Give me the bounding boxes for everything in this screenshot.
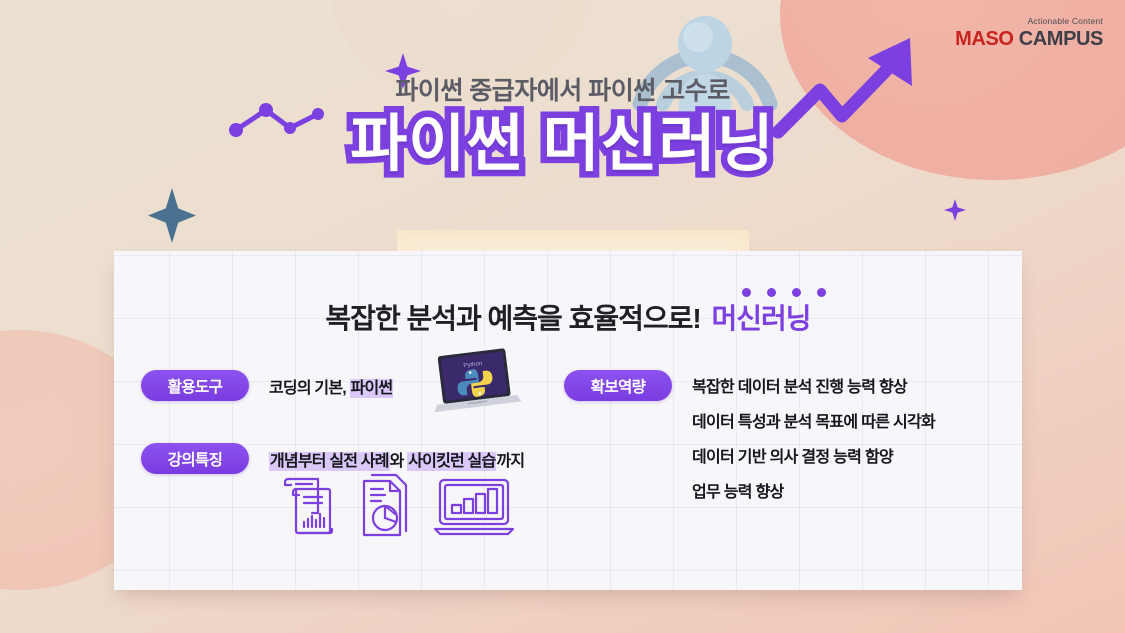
hero-title-block: 파이썬 중급자에서 파이썬 고수로 파이썬 머신러닝 <box>0 78 1125 179</box>
brand-tagline: Actionable Content <box>955 17 1103 26</box>
row-features-seg-3: 사이킷런 실습 <box>407 452 496 471</box>
row-tools-text-plain: 코딩의 기본, <box>269 380 350 397</box>
sparkle-diamond-icon-right <box>944 199 966 221</box>
badge-tools[interactable]: 활용도구 <box>141 370 249 401</box>
badge-skills[interactable]: 확보역량 <box>564 370 672 401</box>
row-skills: 확보역량 복잡한 데이터 분석 진행 능력 향상 데이터 특성과 분석 목표에 … <box>564 370 935 502</box>
laptop-bar-chart-icon <box>432 472 518 540</box>
hero-title: 파이썬 머신러닝 <box>0 110 1125 179</box>
card-headline: 복잡한 분석과 예측을 효율적으로! 머신러닝 <box>114 297 1022 337</box>
decor-dot <box>817 288 826 297</box>
brand-name-second: CAMPUS <box>1019 28 1103 50</box>
row-tools: 활용도구 코딩의 기본, 파이썬 <box>141 370 393 401</box>
card-headline-accent: 머신러닝 <box>712 303 811 334</box>
decor-dot <box>767 288 776 297</box>
laptop-python-logo-icon: Python <box>427 348 523 418</box>
badge-features[interactable]: 강의특징 <box>141 443 249 474</box>
feature-icon-strip <box>282 470 518 540</box>
brand-name: MASO CAMPUS <box>955 29 1103 49</box>
list-item: 데이터 기반 의사 결정 능력 함양 <box>692 443 935 467</box>
list-item: 복잡한 데이터 분석 진행 능력 향상 <box>692 373 935 397</box>
row-tools-text: 코딩의 기본, 파이썬 <box>269 374 393 398</box>
row-features-seg-4: 까지 <box>496 453 524 470</box>
list-item: 업무 능력 향상 <box>692 478 935 502</box>
row-features-seg-2: 와 <box>390 453 408 470</box>
decor-dot <box>792 288 801 297</box>
blue-diamond-icon <box>148 188 196 243</box>
document-pie-chart-icon <box>360 470 416 540</box>
row-features-text: 개념부터 실전 사례와 사이킷런 실습까지 <box>269 447 524 471</box>
decor-dot <box>742 288 751 297</box>
decor-dots-row <box>742 288 826 297</box>
documents-bar-chart-icon <box>282 470 344 540</box>
row-tools-text-highlight: 파이썬 <box>350 379 394 398</box>
row-features-seg-1: 개념부터 실전 사례 <box>269 452 390 471</box>
brand-name-first: MASO <box>955 28 1013 50</box>
skills-list: 복잡한 데이터 분석 진행 능력 향상 데이터 특성과 분석 목표에 따른 시각… <box>692 370 935 502</box>
list-item: 데이터 특성과 분석 목표에 따른 시각화 <box>692 408 935 432</box>
card-headline-main: 복잡한 분석과 예측을 효율적으로! <box>325 303 700 334</box>
course-info-card: 복잡한 분석과 예측을 효율적으로! 머신러닝 활용도구 코딩의 기본, 파이썬… <box>114 251 1022 590</box>
hero-subtitle: 파이썬 중급자에서 파이썬 고수로 <box>0 78 1125 106</box>
brand-logo: Actionable Content MASO CAMPUS <box>955 17 1103 49</box>
